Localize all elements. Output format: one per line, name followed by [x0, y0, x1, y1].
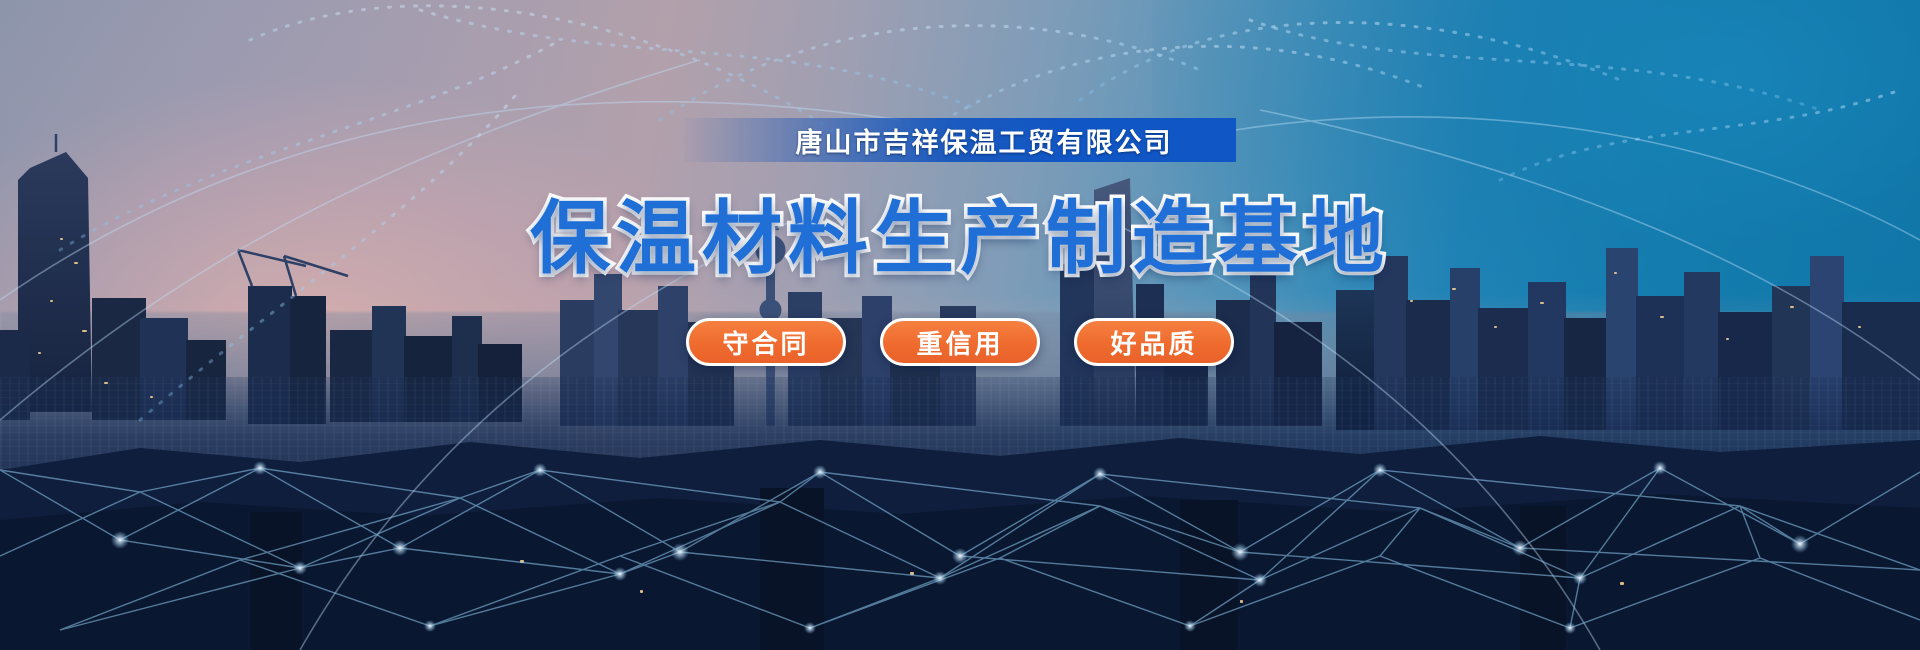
company-name-bar: 唐山市吉祥保温工贸有限公司 [684, 118, 1236, 162]
pill-haopinzhi[interactable]: 好品质 [1074, 318, 1234, 366]
banner-content: 唐山市吉祥保温工贸有限公司 保温材料生产制造基地 守合同 重信用 好品质 [0, 0, 1920, 650]
pill-label: 好品质 [1110, 324, 1197, 361]
pill-zhongxinyong[interactable]: 重信用 [880, 318, 1040, 366]
hero-banner: 唐山市吉祥保温工贸有限公司 保温材料生产制造基地 守合同 重信用 好品质 [0, 0, 1920, 650]
company-name: 唐山市吉祥保温工贸有限公司 [748, 121, 1173, 160]
pill-label: 守合同 [722, 324, 809, 361]
feature-pill-group: 守合同 重信用 好品质 [686, 318, 1234, 366]
page-title: 保温材料生产制造基地 [530, 174, 1390, 290]
pill-shouhetong[interactable]: 守合同 [686, 318, 846, 366]
pill-label: 重信用 [916, 324, 1003, 361]
